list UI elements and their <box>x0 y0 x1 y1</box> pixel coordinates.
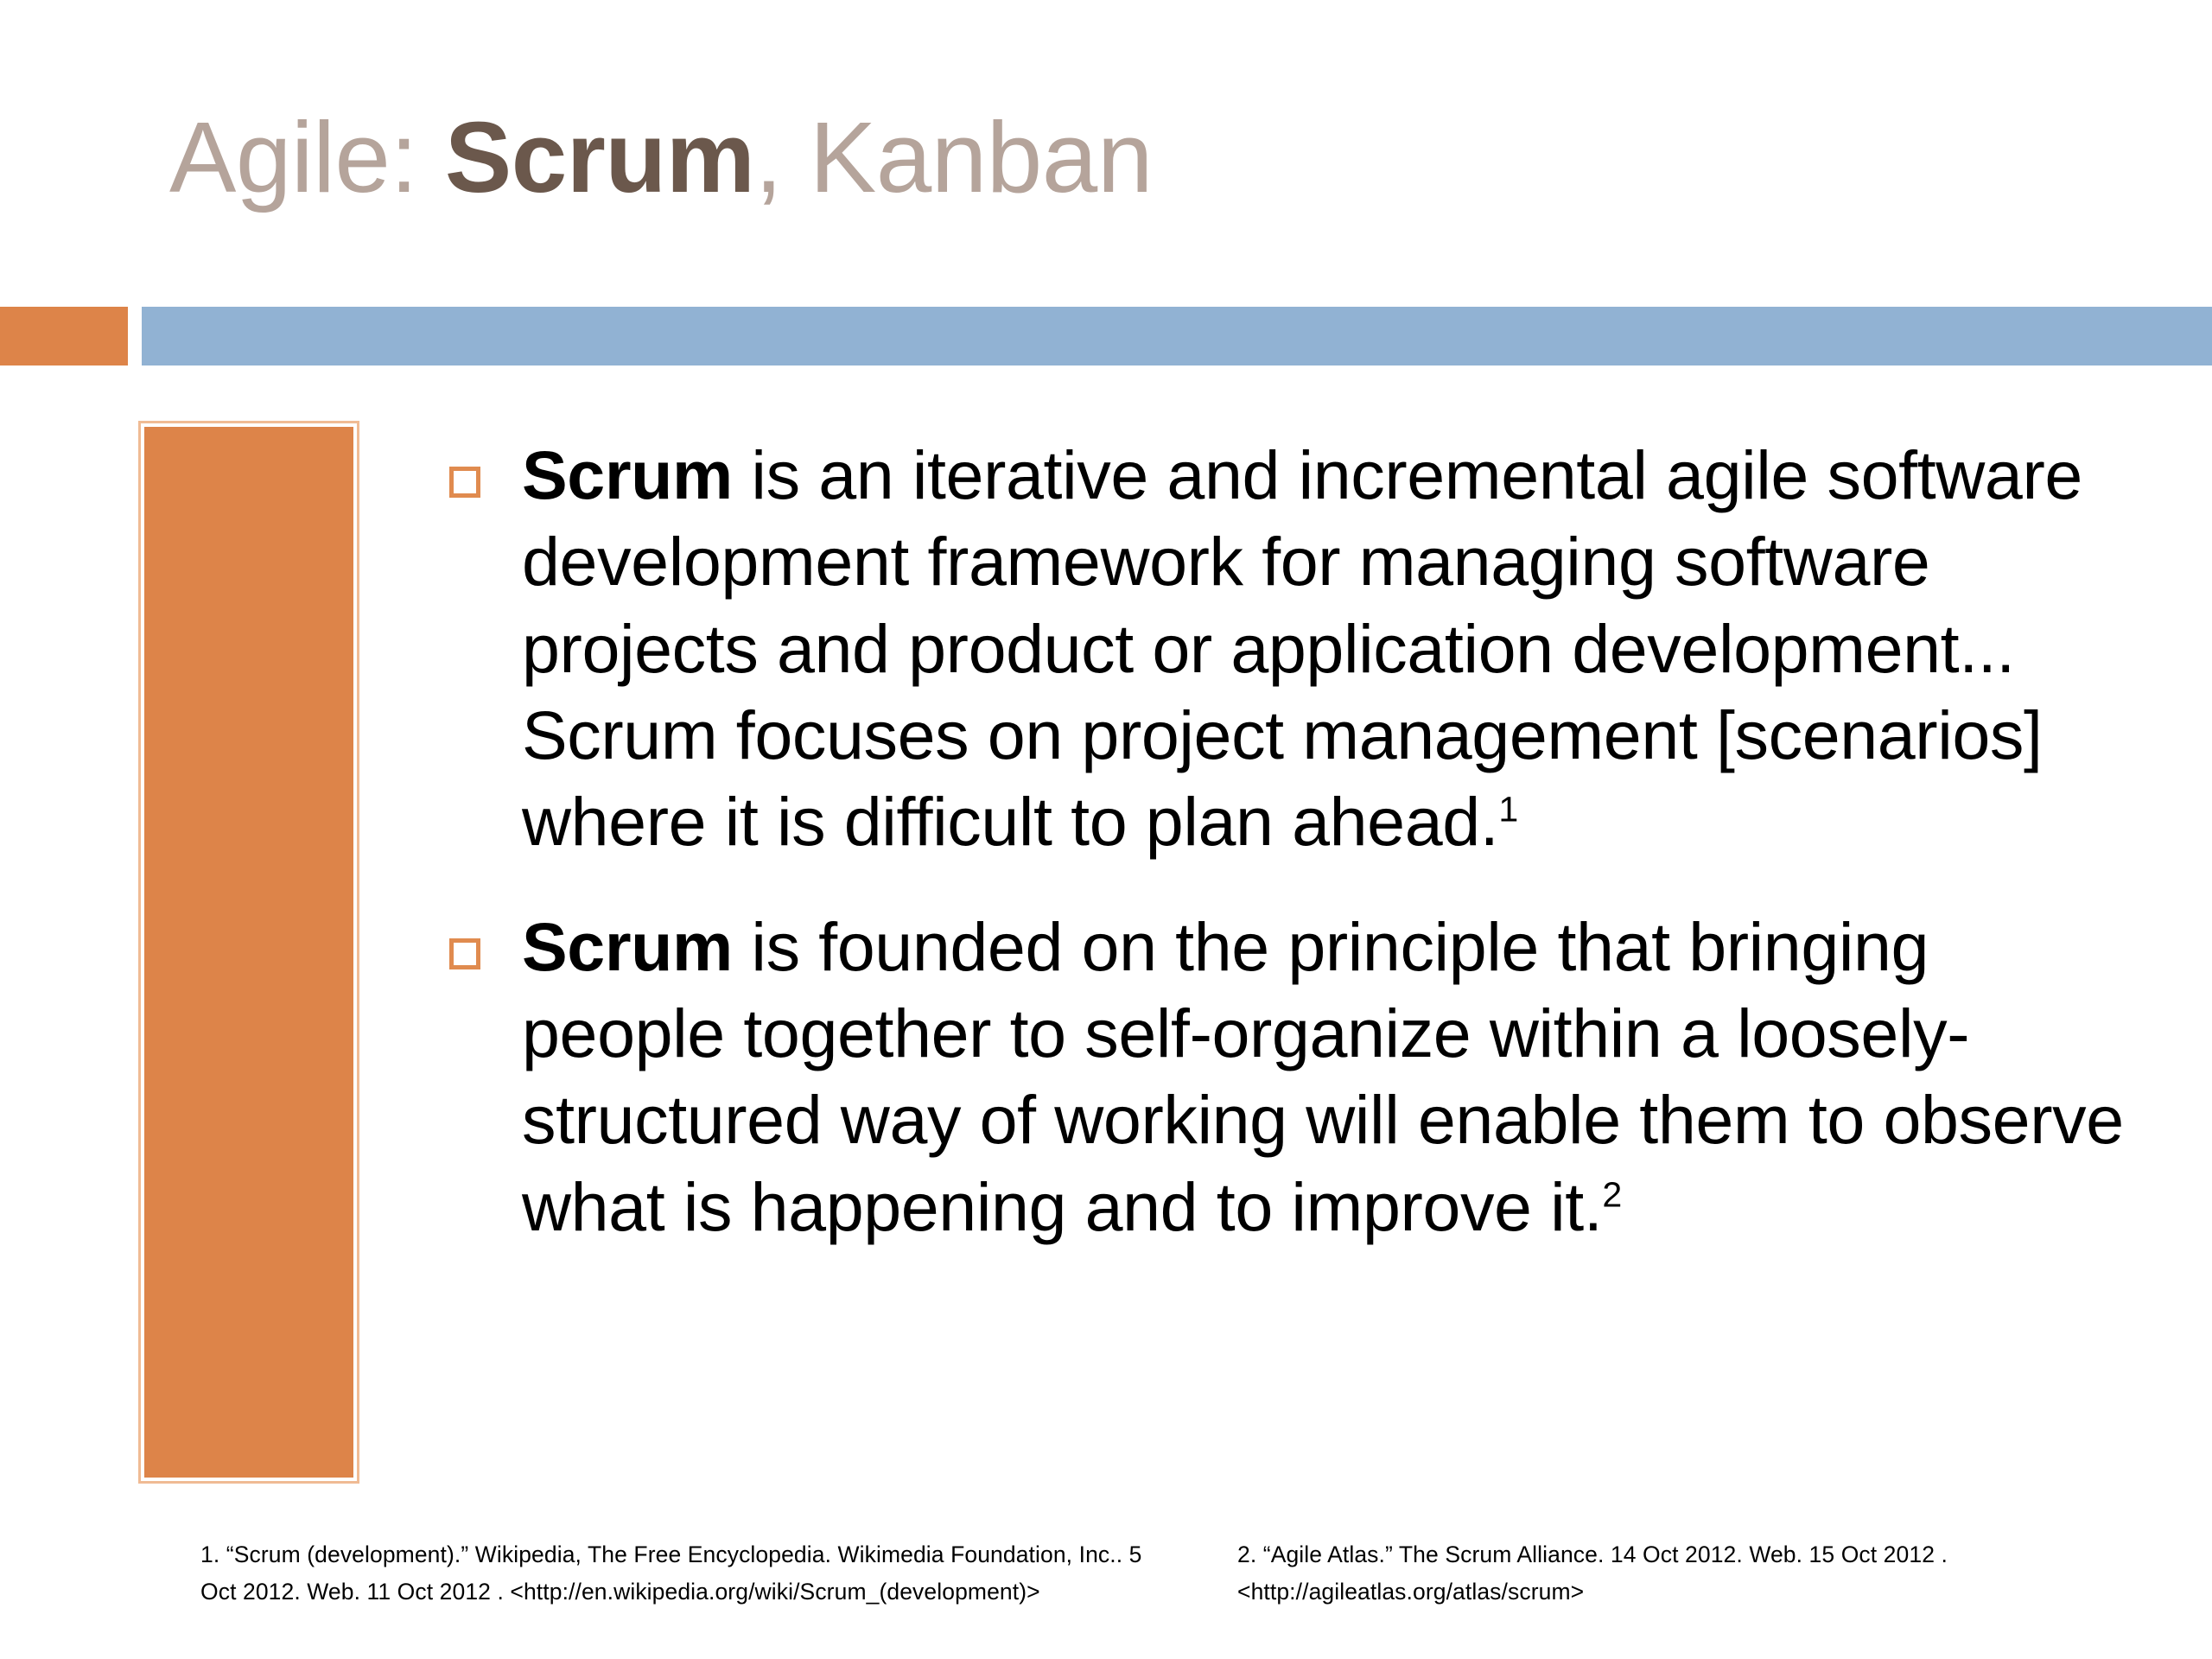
header-blue-bar <box>142 307 2212 365</box>
hollow-square-bullet-icon <box>449 467 480 498</box>
page-title-suffix: , Kanban <box>754 101 1152 213</box>
footnote-area: 1. “Scrum (development).” Wikipedia, The… <box>200 1536 2188 1611</box>
bullet-lead-term: Scrum <box>522 436 733 513</box>
bullet-body-text: is founded on the principle that bringin… <box>522 908 2124 1245</box>
footnote-entry-2: 2. “Agile Atlas.” The Scrum Alliance. 14… <box>1237 1536 2145 1611</box>
bullet-lead-term: Scrum <box>522 908 733 985</box>
list-item: Scrum is founded on the principle that b… <box>449 904 2143 1250</box>
page-title-prefix: Agile: <box>169 101 445 213</box>
footnote-reference: 1 <box>1498 790 1517 829</box>
page-title-emphasis: Scrum <box>445 101 755 213</box>
bullet-text: Scrum is founded on the principle that b… <box>522 904 2143 1250</box>
content-body: Scrum is an iterative and incremental ag… <box>449 432 2143 1288</box>
footnote-entry-1: 1. “Scrum (development).” Wikipedia, The… <box>200 1536 1160 1611</box>
page-title: Agile: Scrum, Kanban <box>169 104 2070 212</box>
list-item: Scrum is an iterative and incremental ag… <box>449 432 2143 866</box>
bullet-body-text: is an iterative and incremental agile so… <box>522 436 2082 860</box>
header-accent-block <box>0 307 128 365</box>
hollow-square-bullet-icon <box>449 938 480 969</box>
footnote-reference: 2 <box>1602 1174 1621 1214</box>
bullet-text: Scrum is an iterative and incremental ag… <box>522 432 2143 866</box>
left-accent-panel <box>138 421 359 1484</box>
header-rule-band <box>0 307 2212 365</box>
